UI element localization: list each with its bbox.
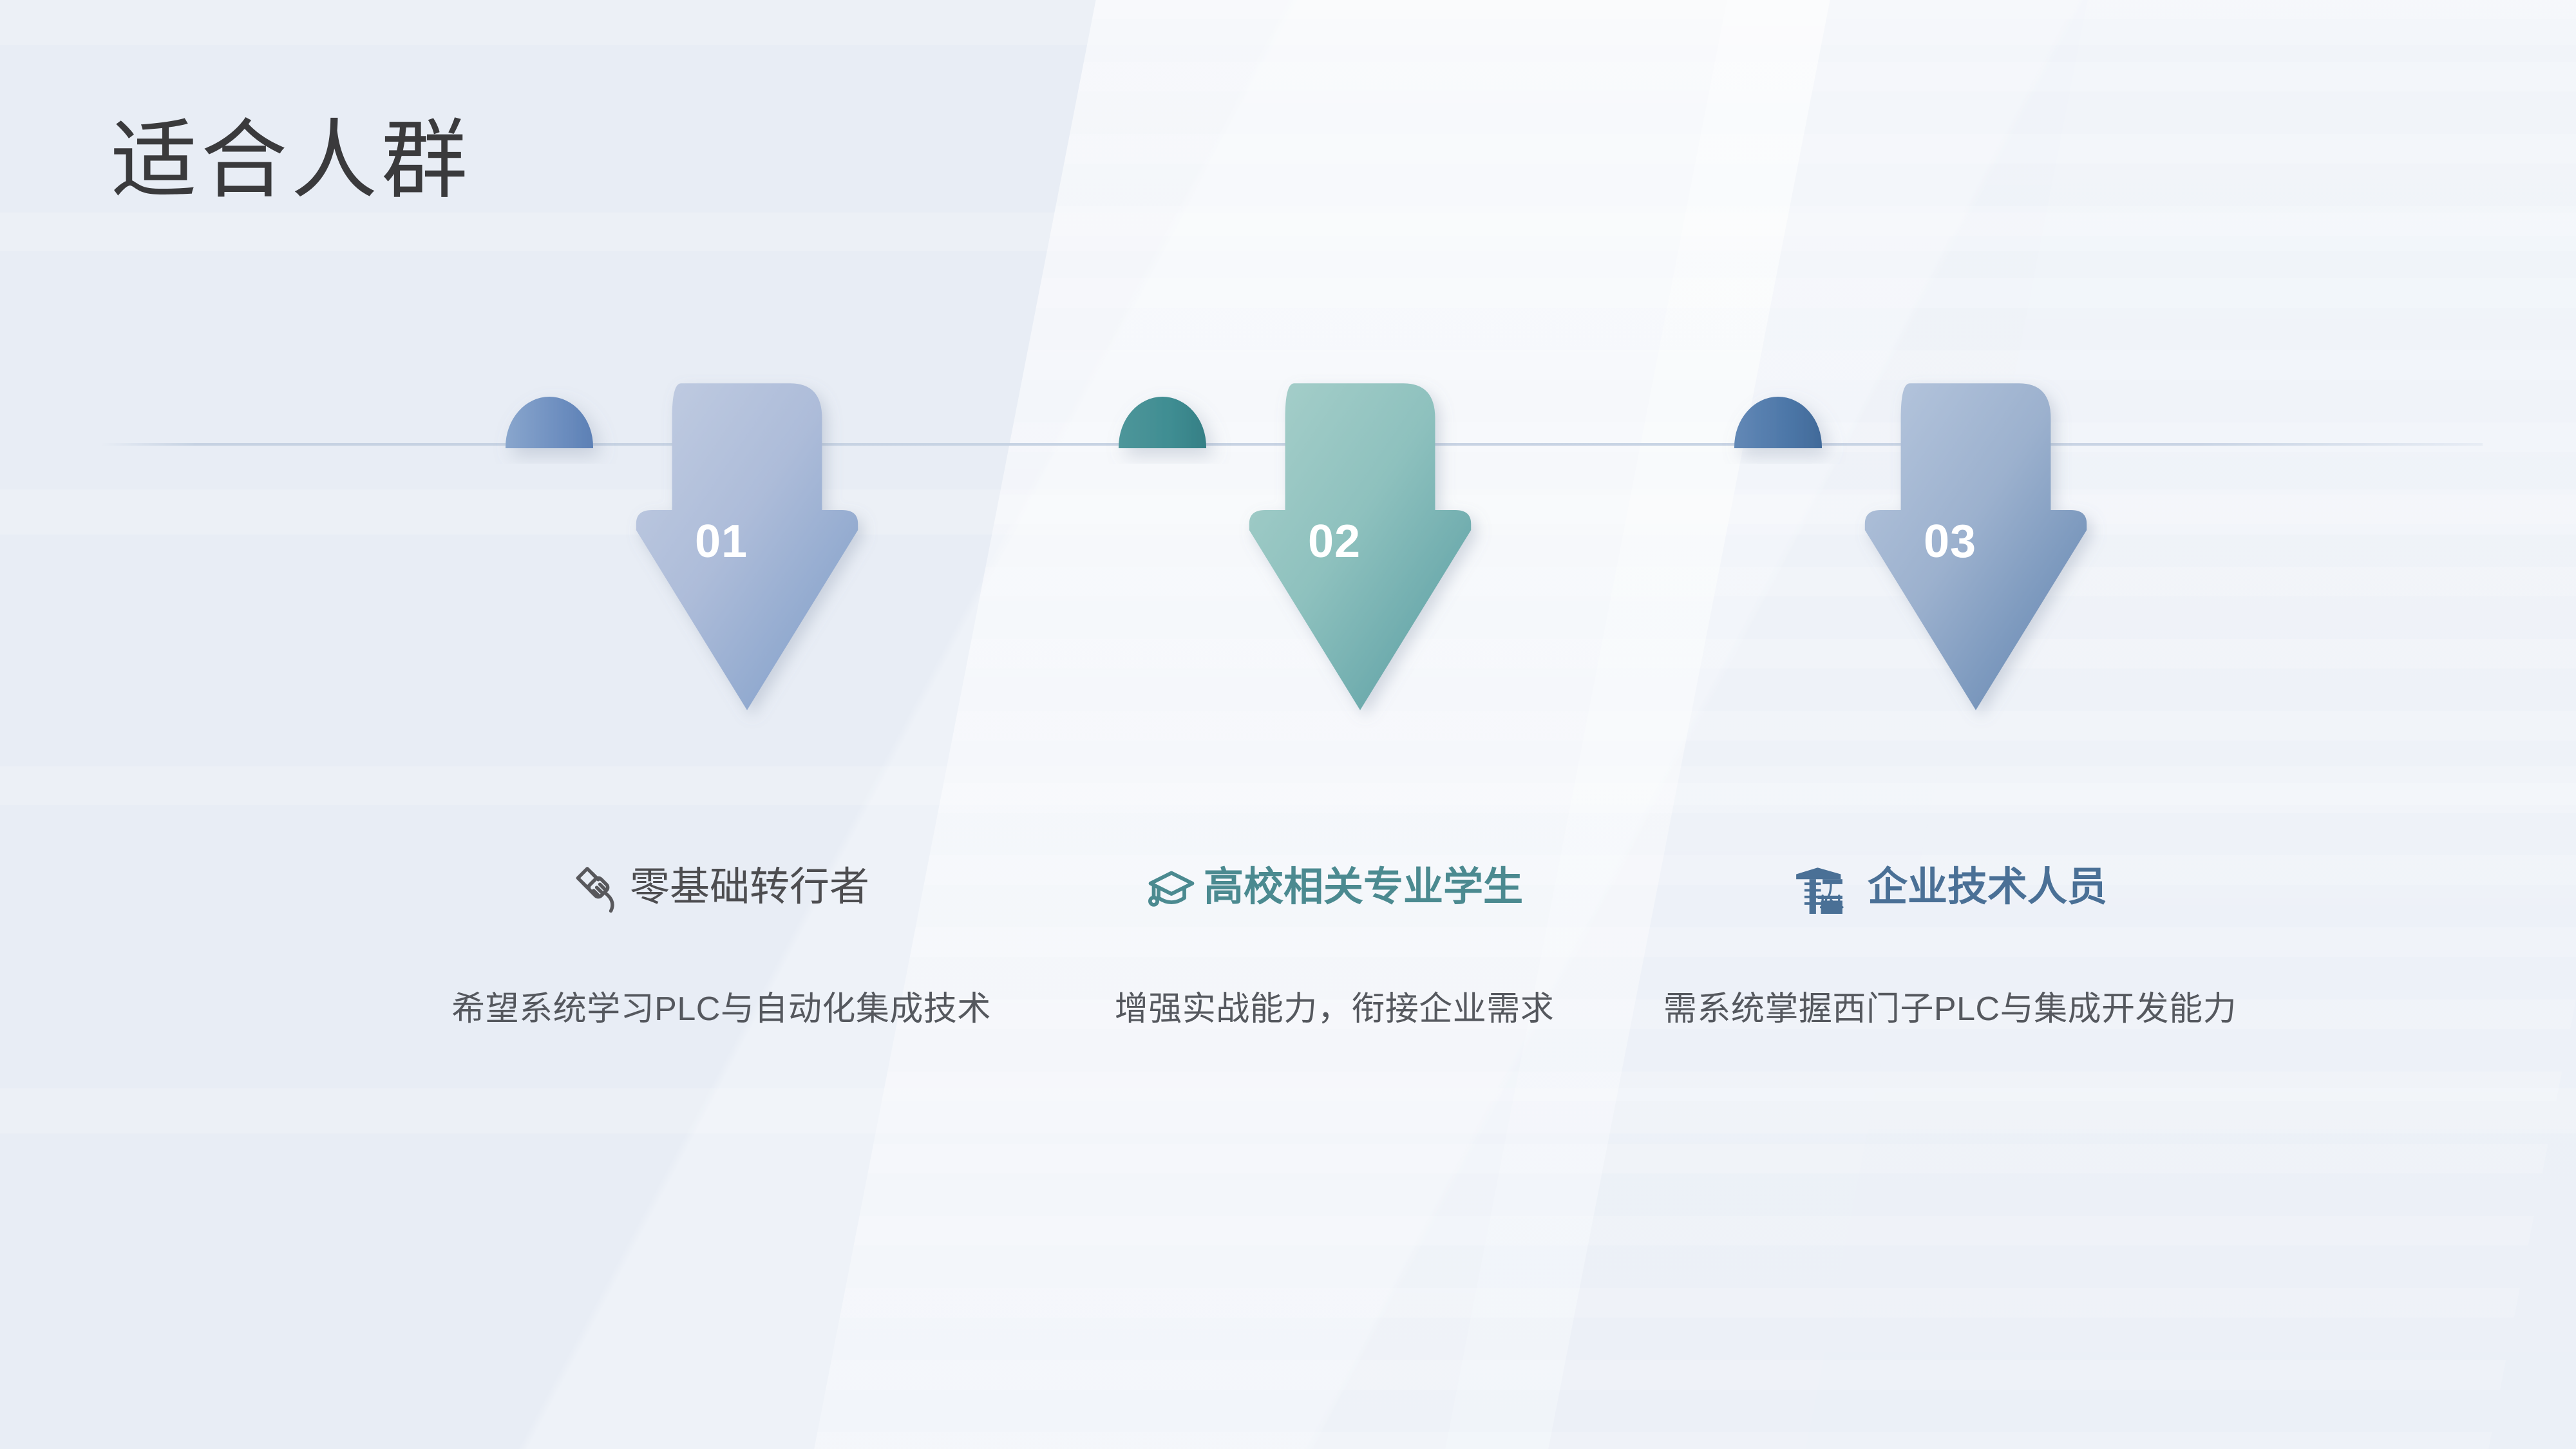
arrow-graphic-3 [1660,352,2240,796]
background-hband-5 [0,1088,2576,1133]
background-hband-2 [0,213,2576,251]
audience-heading-2: 高校相关专业学生 [1045,849,1624,926]
audience-label-3: 企业技术人员 [1868,867,2107,907]
audience-heading-1: 零基础转行者 [431,849,1011,926]
audience-label-1: 零基础转行者 [630,867,869,907]
audience-label-2: 高校相关专业学生 [1204,867,1523,907]
audience-heading-3: 企业技术人员 [1660,849,2240,926]
audience-description-3: 需系统掌握西门子PLC与集成开发能力 [1577,981,2324,1030]
arrow-number-1: 01 [431,515,1011,568]
background-hband-1 [0,0,2576,45]
arrow-number-2: 02 [1045,515,1624,568]
arrow-number-3: 03 [1660,515,2240,568]
arrow-graphic-1 [431,352,1011,796]
page-title: 适合人群 [111,109,471,213]
plug-cable-icon [573,862,623,913]
arrow-graphic-2 [1045,352,1624,796]
tower-crane-icon [1793,861,1846,914]
graduation-cap-icon [1146,862,1197,913]
slide-canvas: 适合人群 [0,0,2576,1449]
